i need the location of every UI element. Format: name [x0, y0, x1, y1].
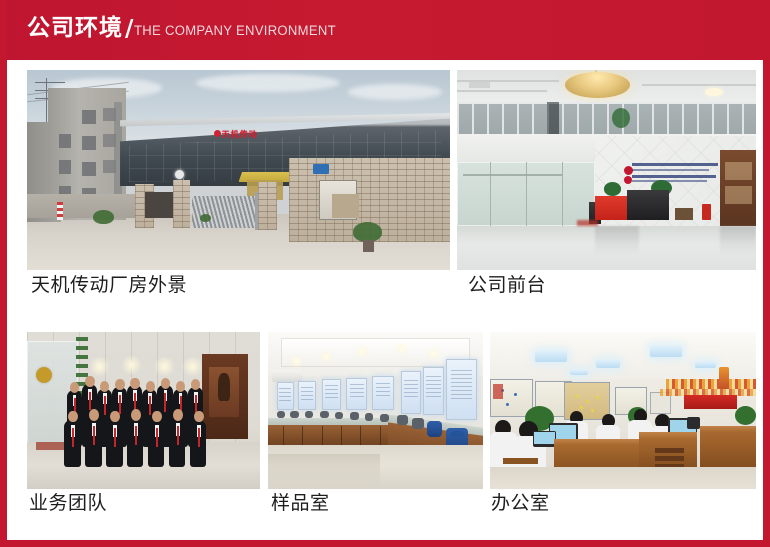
- caption-factory-exterior: 天机传动厂房外景: [31, 276, 187, 295]
- caption-sample-room: 样品室: [271, 494, 330, 513]
- sales-team-scene: [27, 332, 260, 489]
- sample-room-scene: [268, 332, 483, 489]
- factory-exterior-scene: 天机传动: [27, 70, 450, 270]
- section-header-banner: 公司环境 / THE COMPANY ENVIRONMENT: [0, 0, 770, 60]
- caption-sales-team: 业务团队: [29, 494, 107, 513]
- page-title-en: THE COMPANY ENVIRONMENT: [134, 24, 336, 38]
- company-environment-page: 公司环境 / THE COMPANY ENVIRONMENT: [0, 0, 770, 547]
- page-title-cn: 公司环境: [27, 17, 123, 40]
- caption-office: 办公室: [491, 494, 550, 513]
- reception-lobby-photo[interactable]: [457, 70, 756, 270]
- sample-room-photo[interactable]: [268, 332, 483, 489]
- factory-exterior-photo[interactable]: 天机传动: [27, 70, 450, 270]
- header-title-group: 公司环境 / THE COMPANY ENVIRONMENT: [27, 17, 343, 40]
- reception-lobby-scene: [457, 70, 756, 270]
- title-separator: /: [123, 18, 134, 41]
- gallery-content: 天机传动: [7, 60, 763, 540]
- office-scene: [490, 332, 756, 489]
- company-name-wall-sign: [624, 162, 720, 184]
- office-photo[interactable]: [490, 332, 756, 489]
- caption-reception-lobby: 公司前台: [468, 276, 546, 295]
- sales-team-photo[interactable]: [27, 332, 260, 489]
